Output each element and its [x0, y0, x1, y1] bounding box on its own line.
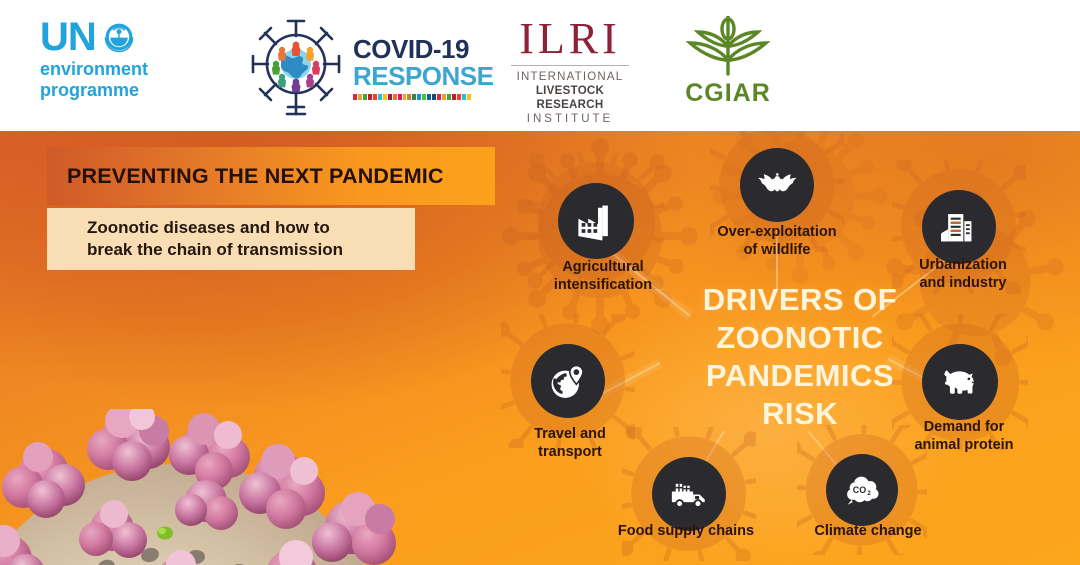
ilri-sub3: INSTITUTE — [505, 112, 635, 126]
co2-cloud-icon[interactable]: CO 2 — [826, 454, 898, 526]
infographic-root: UN — [0, 0, 1080, 565]
logo-covid-19-response: COVID-19 RESPONSE — [245, 12, 470, 120]
ilri-sub2: LIVESTOCK RESEARCH — [505, 84, 635, 112]
covid-globe-people-icon — [245, 14, 347, 118]
bat-icon[interactable] — [740, 148, 814, 222]
covid-line2: RESPONSE — [353, 63, 494, 90]
svg-text:2: 2 — [868, 490, 872, 497]
ilri-divider — [511, 65, 629, 66]
label-line-2: transport — [440, 443, 700, 461]
svg-text:CO: CO — [853, 485, 866, 495]
un-laurel-emblem-icon — [102, 20, 136, 54]
center-title-line-1: DRIVERS OF — [655, 281, 945, 319]
unep-line2: programme — [40, 80, 240, 101]
cgiar-wheat-icon — [676, 16, 780, 78]
main-orange-panel: PREVENTING THE NEXT PANDEMIC Zoonotic di… — [0, 131, 1080, 565]
factory-icon[interactable] — [558, 183, 634, 259]
ilri-acronym: ILRI — [505, 16, 635, 62]
delivery-truck-icon[interactable] — [652, 457, 726, 531]
banner-title: PREVENTING THE NEXT PANDEMIC — [47, 147, 495, 205]
diagram-center-title: DRIVERS OF ZOONOTIC PANDEMICS RISK — [655, 281, 945, 433]
unep-acronym: UN — [40, 18, 96, 56]
sdg-color-swatches — [353, 94, 471, 100]
center-title-line-4: RISK — [655, 395, 945, 433]
banner-subtitle-text: Zoonotic diseases and how to break the c… — [47, 217, 343, 261]
logo-cgiar: CGIAR — [668, 16, 788, 116]
label-line-2: animal protein — [834, 436, 1080, 454]
center-title-line-2: ZOONOTIC — [655, 319, 945, 357]
logo-ilri: ILRI INTERNATIONAL LIVESTOCK RESEARCH IN… — [505, 16, 635, 116]
ilri-sub1: INTERNATIONAL — [505, 70, 635, 84]
pig-icon[interactable] — [922, 344, 998, 420]
center-title-line-3: PANDEMICS — [655, 357, 945, 395]
logo-bar: UN — [0, 0, 1080, 131]
globe-location-pin-icon[interactable] — [531, 344, 605, 418]
unep-line1: environment — [40, 59, 240, 80]
banner-title-text: PREVENTING THE NEXT PANDEMIC — [47, 164, 444, 189]
cgiar-acronym: CGIAR — [668, 79, 788, 107]
banner-subtitle: Zoonotic diseases and how to break the c… — [47, 208, 415, 270]
banner-subtitle-line1: Zoonotic diseases and how to — [67, 217, 343, 239]
banner-subtitle-line2: break the chain of transmission — [67, 239, 343, 261]
city-buildings-icon[interactable] — [922, 190, 996, 264]
sars-cov-2-virus-particle — [0, 409, 400, 565]
green-marker — [157, 527, 173, 540]
logo-un-environment-programme: UN — [40, 18, 240, 114]
covid-line1: COVID-19 — [353, 36, 494, 63]
